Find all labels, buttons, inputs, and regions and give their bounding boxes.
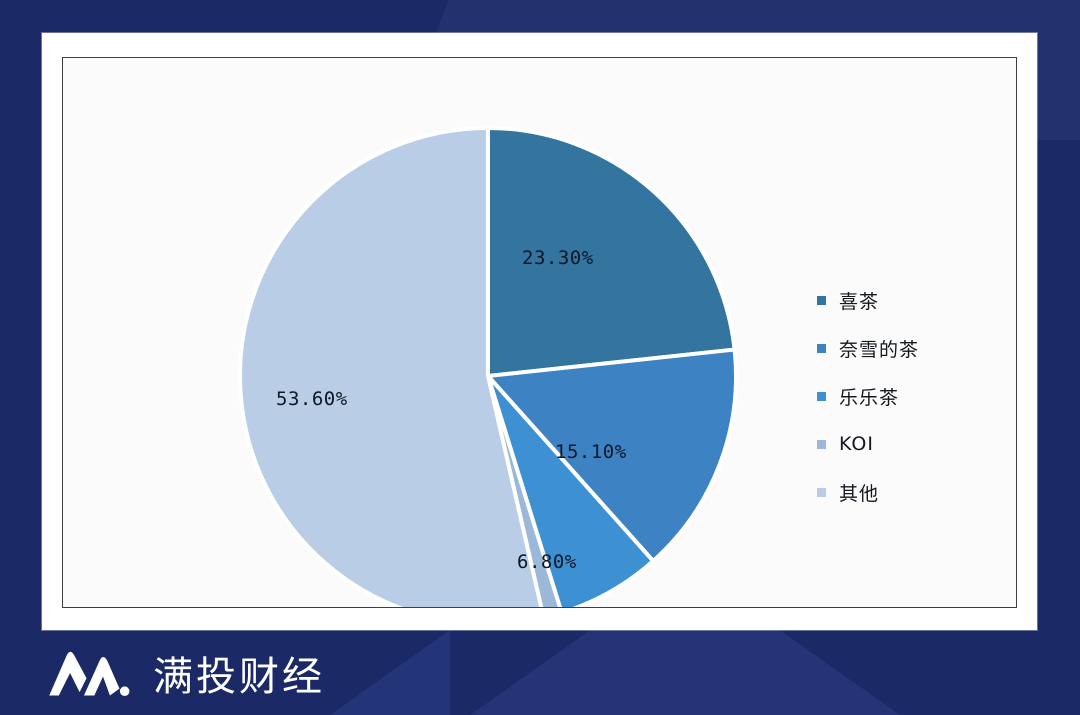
legend-label: 奈雪的茶 [839, 335, 919, 362]
chart-card: 满投财经 23.30% 15.10% 6.80% 1.20% 53.60% 喜茶… [42, 33, 1037, 630]
legend-swatch-icon [817, 296, 826, 305]
background-wedge-bottom-left [330, 630, 450, 715]
legend-item[interactable]: 乐乐茶 [817, 372, 919, 420]
legend-label: 其他 [839, 479, 879, 506]
legend-swatch-icon [817, 488, 826, 497]
mountain-m-logo-icon [44, 647, 136, 699]
slice-label-lelecha: 6.80% [517, 551, 577, 573]
slice-label-other: 53.60% [276, 388, 348, 410]
background-block-bottom-right [900, 630, 1080, 715]
legend-item[interactable]: 奈雪的茶 [817, 324, 919, 372]
slice-label-xicha: 23.30% [522, 247, 594, 269]
legend-label: 乐乐茶 [839, 383, 899, 410]
legend-swatch-icon [817, 344, 826, 353]
footer-brand: 满投财经 [44, 644, 325, 702]
brand-name: 满投财经 [153, 644, 325, 702]
chart-legend: 喜茶奈雪的茶乐乐茶KOI其他 [817, 276, 919, 516]
legend-label: 喜茶 [839, 287, 879, 314]
legend-item[interactable]: 喜茶 [817, 276, 919, 324]
legend-swatch-icon [817, 392, 826, 401]
legend-item[interactable]: KOI [817, 420, 919, 468]
slice-label-naixue: 15.10% [555, 441, 627, 463]
legend-item[interactable]: 其他 [817, 468, 919, 516]
chart-plot-frame: 满投财经 23.30% 15.10% 6.80% 1.20% 53.60% 喜茶… [62, 57, 1017, 608]
legend-swatch-icon [817, 440, 826, 449]
legend-label: KOI [839, 433, 874, 455]
background-chevron-bottom [470, 630, 900, 715]
